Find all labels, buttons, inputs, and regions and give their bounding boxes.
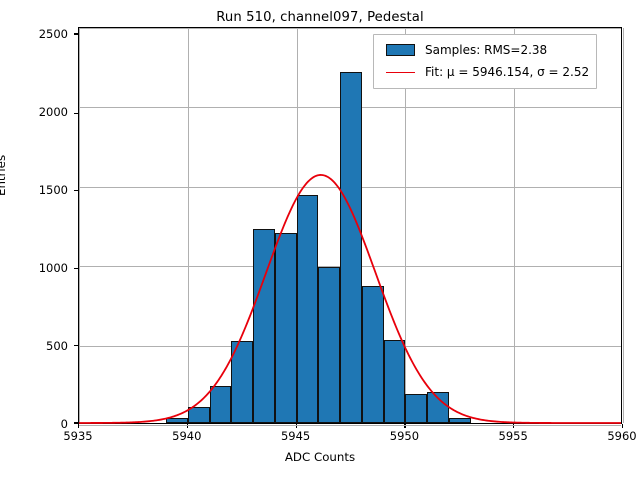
y-tick-label: 1500 xyxy=(4,183,68,197)
x-tick-mark xyxy=(622,424,623,428)
histogram-bar xyxy=(297,195,319,423)
legend-patch-icon xyxy=(381,41,419,59)
x-tick-label: 5950 xyxy=(374,429,434,443)
x-tick-label: 5935 xyxy=(48,429,108,443)
y-tick-label: 2500 xyxy=(4,27,68,41)
histogram-bar xyxy=(188,407,210,423)
y-tick-label: 2000 xyxy=(4,105,68,119)
y-tick-label: 500 xyxy=(4,339,68,353)
x-tick-label: 5945 xyxy=(266,429,326,443)
histogram-bar xyxy=(427,392,449,423)
legend-item-samples: Samples: RMS=2.38 xyxy=(381,40,589,60)
legend-item-fit: Fit: μ = 5946.154, σ = 2.52 xyxy=(381,62,589,82)
histogram-bar xyxy=(231,341,253,423)
x-tick-label: 5940 xyxy=(157,429,217,443)
histogram-bar xyxy=(166,418,188,423)
legend-label-fit: Fit: μ = 5946.154, σ = 2.52 xyxy=(425,65,589,79)
y-tick-label: 1000 xyxy=(4,261,68,275)
gridline-horizontal xyxy=(79,425,621,426)
histogram-bar xyxy=(318,267,340,423)
gridline-vertical xyxy=(623,28,624,423)
x-axis-label: ADC Counts xyxy=(0,450,640,464)
figure-canvas: Run 510, channel097, Pedestal Entries AD… xyxy=(0,0,640,480)
legend: Samples: RMS=2.38 Fit: μ = 5946.154, σ =… xyxy=(373,34,597,89)
histogram-bar xyxy=(210,386,232,423)
chart-title: Run 510, channel097, Pedestal xyxy=(0,10,640,25)
histogram-bar xyxy=(340,72,362,423)
histogram-bar xyxy=(405,394,427,423)
legend-label-samples: Samples: RMS=2.38 xyxy=(425,43,547,57)
legend-line-icon xyxy=(381,63,419,81)
histogram-bar xyxy=(362,286,384,423)
histogram-bar xyxy=(253,229,275,423)
x-tick-label: 5960 xyxy=(592,429,640,443)
histogram-bar xyxy=(449,418,471,423)
histogram-bar xyxy=(275,233,297,423)
x-tick-label: 5955 xyxy=(483,429,543,443)
histogram-bar xyxy=(384,340,406,423)
